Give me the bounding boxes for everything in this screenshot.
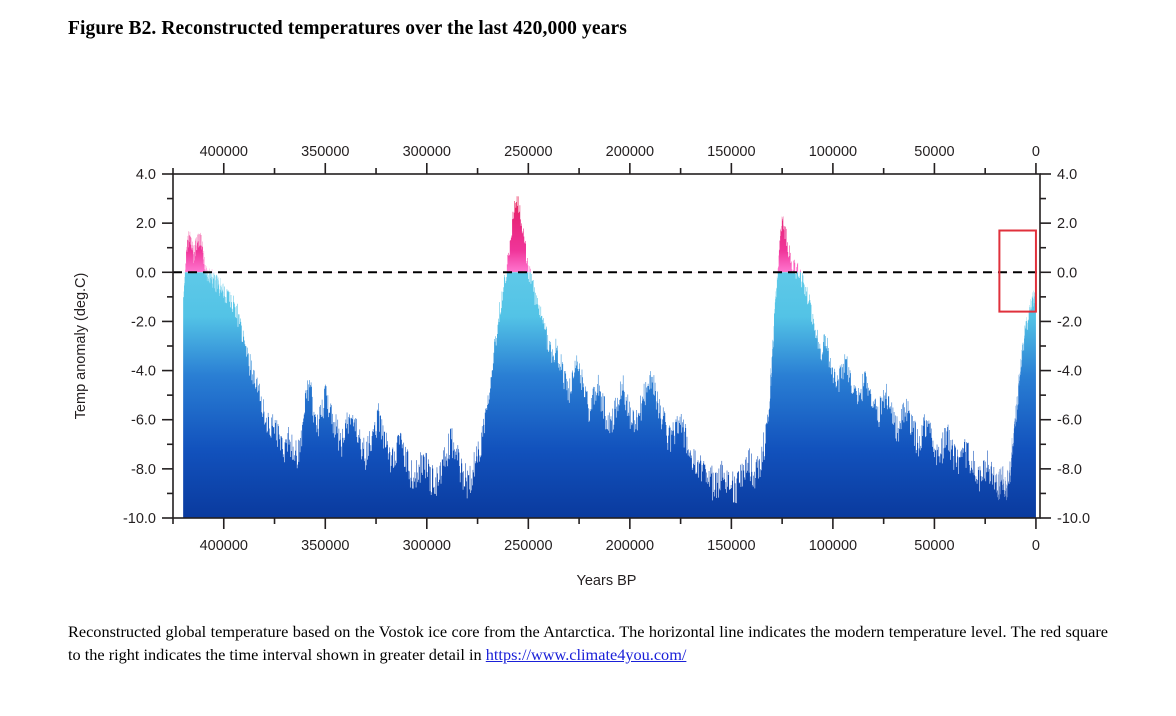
x-tick-label-bottom-8: 0 — [1032, 538, 1040, 554]
x-tick-label-top-1: 350000 — [301, 144, 349, 160]
x-tick-label-bottom-5: 150000 — [707, 538, 755, 554]
x-tick-label-bottom-4: 200000 — [606, 538, 654, 554]
x-tick-label-top-7: 50000 — [914, 144, 954, 160]
x-tick-label-top-0: 400000 — [200, 144, 248, 160]
temperature-area-series — [183, 196, 1036, 518]
x-axis-title: Years BP — [577, 573, 637, 589]
x-tick-label-top-2: 300000 — [403, 144, 451, 160]
y-tick-label-right-1: 2.0 — [1057, 216, 1077, 232]
y-tick-label-left-0: 4.0 — [136, 167, 156, 183]
y-tick-label-right-5: -6.0 — [1057, 413, 1082, 429]
x-tick-label-top-8: 0 — [1032, 144, 1040, 160]
y-tick-label-left-1: 2.0 — [136, 216, 156, 232]
x-tick-label-bottom-7: 50000 — [914, 538, 954, 554]
x-tick-label-top-3: 250000 — [504, 144, 552, 160]
y-tick-label-left-2: 0.0 — [136, 265, 156, 281]
y-tick-label-left-4: -4.0 — [131, 364, 156, 380]
x-tick-label-top-4: 200000 — [606, 144, 654, 160]
y-tick-label-right-0: 4.0 — [1057, 167, 1077, 183]
y-tick-label-right-7: -10.0 — [1057, 511, 1090, 527]
caption-link[interactable]: https://www.climate4you.com/ — [486, 645, 687, 664]
x-tick-label-bottom-3: 250000 — [504, 538, 552, 554]
figure-container: Figure B2. Reconstructed temperatures ov… — [0, 0, 1176, 716]
y-tick-label-left-7: -10.0 — [123, 511, 156, 527]
figure-caption: Reconstructed global temperature based o… — [68, 620, 1108, 666]
y-tick-label-right-3: -2.0 — [1057, 314, 1082, 330]
vostok-temperature-chart: 4000004000003500003500003000003000002500… — [0, 100, 1176, 610]
y-tick-label-left-6: -8.0 — [131, 462, 156, 478]
x-tick-label-bottom-2: 300000 — [403, 538, 451, 554]
y-tick-label-left-3: -2.0 — [131, 314, 156, 330]
x-tick-label-bottom-1: 350000 — [301, 538, 349, 554]
figure-title: Figure B2. Reconstructed temperatures ov… — [68, 18, 627, 40]
y-tick-label-right-4: -4.0 — [1057, 364, 1082, 380]
x-tick-label-bottom-0: 400000 — [200, 538, 248, 554]
y-tick-label-right-2: 0.0 — [1057, 265, 1077, 281]
x-tick-label-bottom-6: 100000 — [809, 538, 857, 554]
y-axis-title: Temp anomaly (deg.C) — [73, 273, 89, 420]
x-tick-label-top-6: 100000 — [809, 144, 857, 160]
x-tick-label-top-5: 150000 — [707, 144, 755, 160]
y-tick-label-left-5: -6.0 — [131, 413, 156, 429]
y-tick-label-right-6: -8.0 — [1057, 462, 1082, 478]
chart-area: 4000004000003500003500003000003000002500… — [0, 100, 1176, 610]
